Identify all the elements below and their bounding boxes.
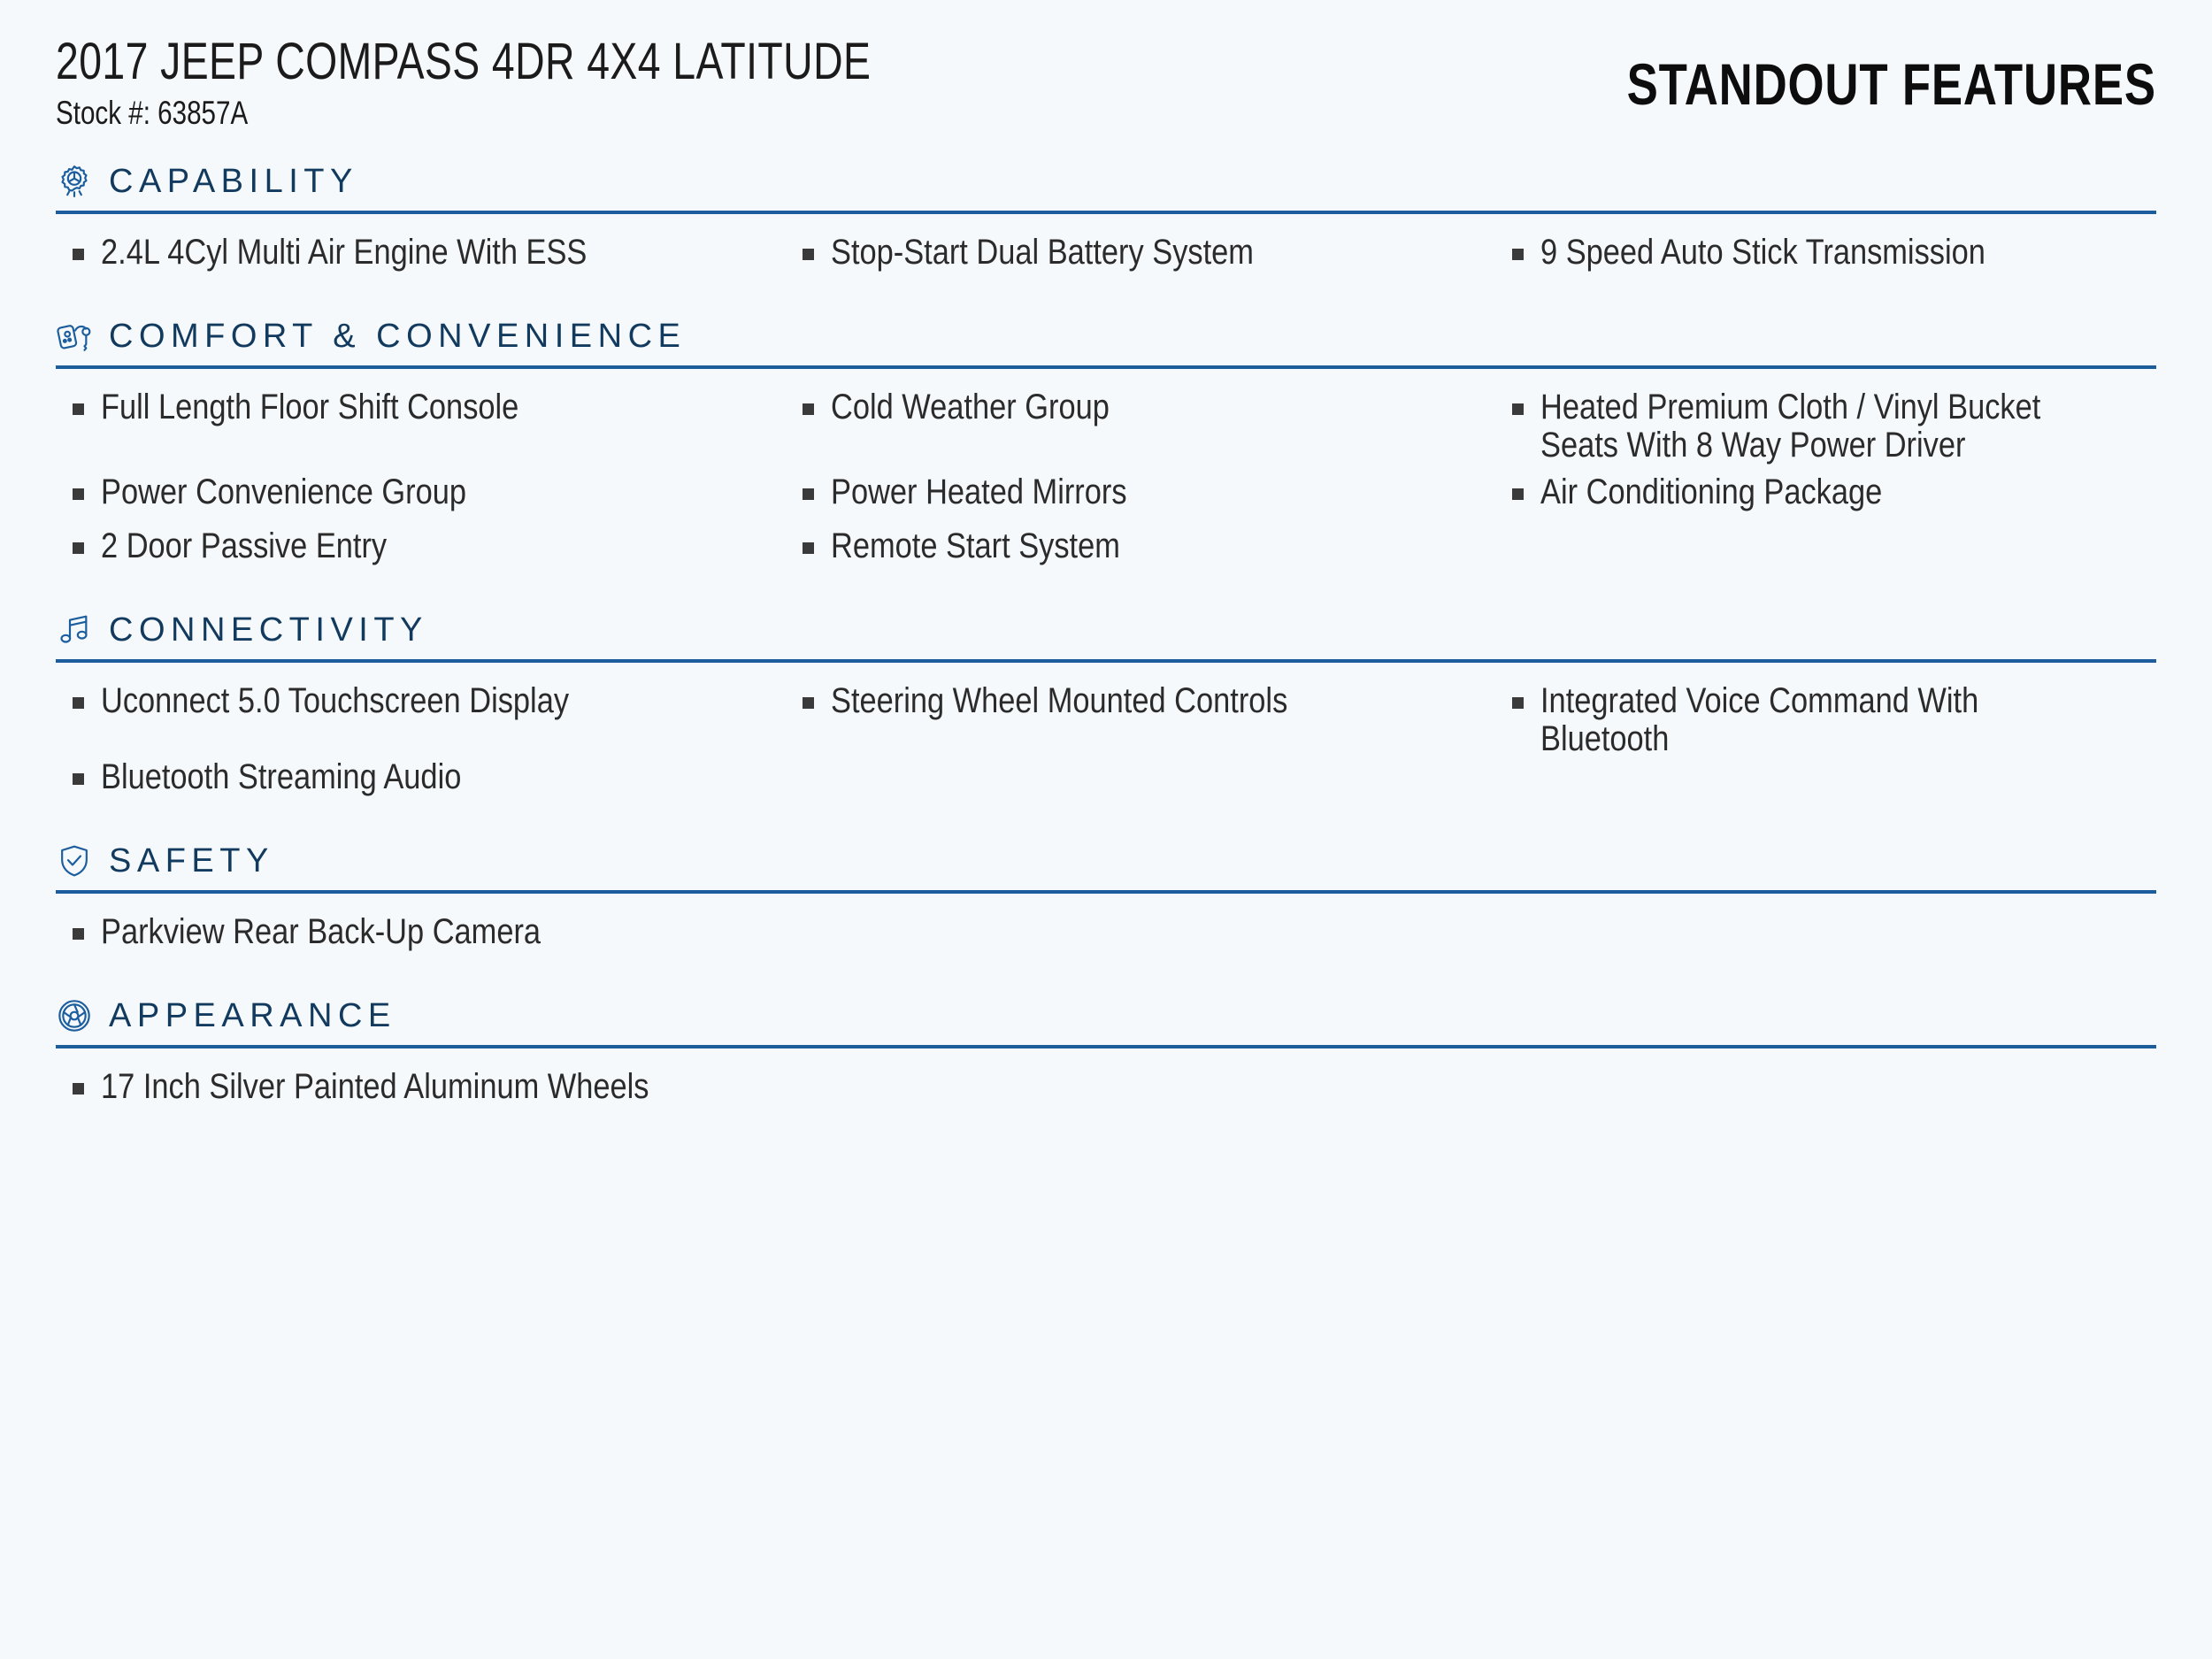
music-note-icon xyxy=(56,611,93,649)
feature-row: 17 Inch Silver Painted Aluminum Wheels xyxy=(56,1068,2156,1122)
feature-cell: Integrated Voice Command With Bluetooth xyxy=(1495,682,2156,758)
section-title-capability: CAPABILITY xyxy=(109,163,358,200)
bullet-square-icon xyxy=(73,403,84,415)
feature-item: Power Convenience Group xyxy=(56,473,761,511)
feature-item: 9 Speed Auto Stick Transmission xyxy=(1495,234,2131,272)
feature-label: 9 Speed Auto Stick Transmission xyxy=(1540,234,2048,272)
feature-cell: Parkview Rear Back-Up Camera xyxy=(56,913,786,951)
feature-label: Steering Wheel Mounted Controls xyxy=(831,682,1381,720)
feature-label: Power Convenience Group xyxy=(101,473,669,511)
bullet-square-icon xyxy=(803,542,814,554)
feature-cell: 17 Inch Silver Painted Aluminum Wheels xyxy=(56,1068,786,1106)
section-divider-comfort-convenience xyxy=(56,365,2156,369)
feature-item: 2.4L 4Cyl Multi Air Engine With ESS xyxy=(56,234,761,272)
feature-item: Stop-Start Dual Battery System xyxy=(786,234,1471,272)
section-title-comfort-convenience: COMFORT & CONVENIENCE xyxy=(109,318,686,355)
bullet-square-icon xyxy=(73,1083,84,1094)
shield-check-icon xyxy=(56,842,93,879)
section-divider-connectivity xyxy=(56,659,2156,663)
feature-item: Uconnect 5.0 Touchscreen Display xyxy=(56,682,761,720)
bullet-square-icon xyxy=(73,488,84,500)
section-comfort-convenience: COMFORT & CONVENIENCEFull Length Floor S… xyxy=(56,318,2156,581)
feature-grid-comfort-convenience: Full Length Floor Shift ConsoleCold Weat… xyxy=(56,388,2156,581)
feature-cell: 9 Speed Auto Stick Transmission xyxy=(1495,234,2156,272)
feature-cell: Heated Premium Cloth / Vinyl Bucket Seat… xyxy=(1495,388,2156,465)
section-title-safety: SAFETY xyxy=(109,842,274,879)
gear-icon xyxy=(56,163,93,200)
feature-cell: Steering Wheel Mounted Controls xyxy=(786,682,1495,720)
section-divider-appearance xyxy=(56,1045,2156,1048)
feature-row: Parkview Rear Back-Up Camera xyxy=(56,913,2156,967)
wheel-icon xyxy=(56,997,93,1034)
bullet-square-icon xyxy=(73,697,84,709)
feature-item: 17 Inch Silver Painted Aluminum Wheels xyxy=(56,1068,761,1106)
page-header: 2017 JEEP COMPASS 4DR 4X4 LATITUDE Stock… xyxy=(56,0,2156,133)
section-capability: CAPABILITY2.4L 4Cyl Multi Air Engine Wit… xyxy=(56,163,2156,288)
feature-item: Bluetooth Streaming Audio xyxy=(56,758,761,796)
feature-item: Steering Wheel Mounted Controls xyxy=(786,682,1471,720)
feature-cell: Air Conditioning Package xyxy=(1495,473,2156,511)
document-title: STANDOUT FEATURES xyxy=(1627,55,2156,113)
feature-label: Integrated Voice Command With Bluetooth xyxy=(1540,682,2048,758)
feature-item: Remote Start System xyxy=(786,527,1471,565)
feature-row: Bluetooth Streaming Audio xyxy=(56,758,2156,812)
bullet-square-icon xyxy=(803,488,814,500)
feature-cell: 2 Door Passive Entry xyxy=(56,527,786,565)
feature-grid-capability: 2.4L 4Cyl Multi Air Engine With ESSStop-… xyxy=(56,234,2156,288)
feature-item: Heated Premium Cloth / Vinyl Bucket Seat… xyxy=(1495,388,2131,465)
section-safety: SAFETYParkview Rear Back-Up Camera xyxy=(56,842,2156,967)
feature-label: Uconnect 5.0 Touchscreen Display xyxy=(101,682,669,720)
feature-row: Uconnect 5.0 Touchscreen DisplaySteering… xyxy=(56,682,2156,758)
feature-row: Power Convenience GroupPower Heated Mirr… xyxy=(56,473,2156,527)
feature-label: Power Heated Mirrors xyxy=(831,473,1381,511)
section-header-capability: CAPABILITY xyxy=(56,163,2156,205)
stock-number: Stock #: 63857A xyxy=(56,94,871,133)
feature-cell: Power Convenience Group xyxy=(56,473,786,511)
section-header-safety: SAFETY xyxy=(56,842,2156,885)
feature-cell: Power Heated Mirrors xyxy=(786,473,1495,511)
feature-grid-connectivity: Uconnect 5.0 Touchscreen DisplaySteering… xyxy=(56,682,2156,812)
section-divider-safety xyxy=(56,890,2156,894)
bottom-spacer xyxy=(56,1122,2156,1157)
bullet-square-icon xyxy=(1512,697,1524,709)
bullet-square-icon xyxy=(803,697,814,709)
feature-label: Heated Premium Cloth / Vinyl Bucket Seat… xyxy=(1540,388,2048,465)
page-title: 2017 JEEP COMPASS 4DR 4X4 LATITUDE xyxy=(56,35,871,88)
feature-row: Full Length Floor Shift ConsoleCold Weat… xyxy=(56,388,2156,473)
feature-label: Stop-Start Dual Battery System xyxy=(831,234,1381,272)
bullet-square-icon xyxy=(1512,403,1524,415)
section-divider-capability xyxy=(56,211,2156,214)
feature-item: Full Length Floor Shift Console xyxy=(56,388,761,426)
bullet-square-icon xyxy=(73,928,84,940)
feature-item: Air Conditioning Package xyxy=(1495,473,2131,511)
bullet-square-icon xyxy=(1512,488,1524,500)
key-fob-icon xyxy=(56,318,93,355)
feature-label: Air Conditioning Package xyxy=(1540,473,2048,511)
feature-item: Cold Weather Group xyxy=(786,388,1471,426)
feature-label: 2 Door Passive Entry xyxy=(101,527,669,565)
feature-label: Bluetooth Streaming Audio xyxy=(101,758,669,796)
feature-item: 2 Door Passive Entry xyxy=(56,527,761,565)
standout-features-sheet: 2017 JEEP COMPASS 4DR 4X4 LATITUDE Stock… xyxy=(0,0,2212,1659)
section-header-appearance: APPEARANCE xyxy=(56,997,2156,1040)
feature-item: Power Heated Mirrors xyxy=(786,473,1471,511)
feature-cell: Stop-Start Dual Battery System xyxy=(786,234,1495,272)
vehicle-identity: 2017 JEEP COMPASS 4DR 4X4 LATITUDE Stock… xyxy=(56,35,1075,133)
section-header-connectivity: CONNECTIVITY xyxy=(56,611,2156,654)
sections-container: CAPABILITY2.4L 4Cyl Multi Air Engine Wit… xyxy=(56,163,2156,1122)
feature-item: Parkview Rear Back-Up Camera xyxy=(56,913,761,951)
section-title-connectivity: CONNECTIVITY xyxy=(109,611,428,649)
feature-row: 2 Door Passive EntryRemote Start System xyxy=(56,527,2156,581)
section-header-comfort-convenience: COMFORT & CONVENIENCE xyxy=(56,318,2156,360)
feature-label: Cold Weather Group xyxy=(831,388,1381,426)
bullet-square-icon xyxy=(803,249,814,260)
feature-cell: Full Length Floor Shift Console xyxy=(56,388,786,426)
feature-cell: Remote Start System xyxy=(786,527,1495,565)
bullet-square-icon xyxy=(73,249,84,260)
feature-label: 2.4L 4Cyl Multi Air Engine With ESS xyxy=(101,234,669,272)
section-connectivity: CONNECTIVITYUconnect 5.0 Touchscreen Dis… xyxy=(56,611,2156,812)
feature-row: 2.4L 4Cyl Multi Air Engine With ESSStop-… xyxy=(56,234,2156,288)
feature-label: Parkview Rear Back-Up Camera xyxy=(101,913,669,951)
feature-cell: Bluetooth Streaming Audio xyxy=(56,758,786,796)
bullet-square-icon xyxy=(803,403,814,415)
feature-item: Integrated Voice Command With Bluetooth xyxy=(1495,682,2131,758)
feature-cell: Uconnect 5.0 Touchscreen Display xyxy=(56,682,786,720)
feature-label: Remote Start System xyxy=(831,527,1381,565)
section-title-appearance: APPEARANCE xyxy=(109,997,396,1034)
bullet-square-icon xyxy=(1512,249,1524,260)
feature-label: 17 Inch Silver Painted Aluminum Wheels xyxy=(101,1068,669,1106)
bullet-square-icon xyxy=(73,542,84,554)
section-appearance: APPEARANCE17 Inch Silver Painted Aluminu… xyxy=(56,997,2156,1122)
bullet-square-icon xyxy=(73,773,84,785)
feature-grid-safety: Parkview Rear Back-Up Camera xyxy=(56,913,2156,967)
feature-cell: Cold Weather Group xyxy=(786,388,1495,426)
feature-label: Full Length Floor Shift Console xyxy=(101,388,669,426)
feature-grid-appearance: 17 Inch Silver Painted Aluminum Wheels xyxy=(56,1068,2156,1122)
feature-cell: 2.4L 4Cyl Multi Air Engine With ESS xyxy=(56,234,786,272)
